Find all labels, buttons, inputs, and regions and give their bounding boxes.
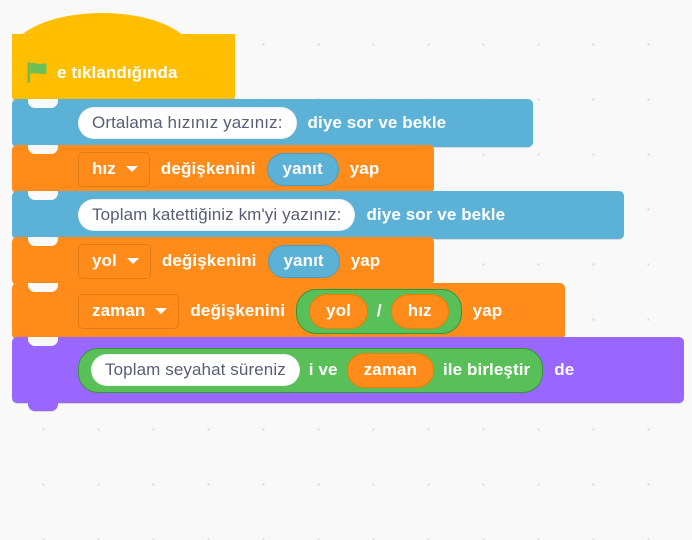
block-set-yol[interactable]: yol değişkenini yanıt yap (12, 237, 434, 285)
block-script[interactable]: e tıklandığında Ortalama hızınız yazınız… (12, 12, 684, 403)
chevron-down-icon (126, 166, 138, 172)
when-flag-clicked-label: e tıklandığında (57, 63, 178, 83)
ask-distance-label: diye sor ve bekle (366, 205, 505, 225)
block-notch (28, 237, 58, 246)
variable-dropdown-hiz[interactable]: hız (78, 152, 150, 187)
block-notch (28, 283, 58, 292)
variable-dropdown-zaman[interactable]: zaman (78, 294, 179, 329)
set-zaman-label-mid: değişkenini (190, 301, 285, 321)
operator-join[interactable]: Toplam seyahat süreniz i ve zaman ile bi… (78, 348, 543, 393)
join-text-input[interactable]: Toplam seyahat süreniz (91, 354, 300, 386)
variable-reporter-yol[interactable]: yol (309, 294, 368, 329)
variable-dropdown-hiz-label: hız (92, 159, 116, 179)
answer-reporter[interactable]: yanıt (267, 153, 339, 186)
variable-dropdown-zaman-label: zaman (92, 301, 145, 321)
blocks-workspace[interactable]: e tıklandığında Ortalama hızınız yazınız… (0, 0, 692, 540)
variable-reporter-zaman[interactable]: zaman (347, 353, 434, 388)
join-label-mid: i ve (309, 360, 338, 380)
ask-speed-input[interactable]: Ortalama hızınız yazınız: (78, 107, 297, 139)
block-set-hiz[interactable]: hız değişkenini yanıt yap (12, 145, 434, 193)
block-say[interactable]: Toplam seyahat süreniz i ve zaman ile bi… (12, 337, 684, 403)
green-flag-icon (26, 61, 48, 84)
set-hiz-label-mid: değişkenini (161, 159, 256, 179)
variable-dropdown-yol[interactable]: yol (78, 244, 151, 279)
set-yol-label-end: yap (351, 251, 381, 271)
chevron-down-icon (155, 308, 167, 314)
block-notch (28, 145, 58, 154)
block-ask-distance[interactable]: Toplam katettiğiniz km'yi yazınız: diye … (12, 191, 624, 239)
block-bump (28, 402, 58, 411)
operator-divide[interactable]: yol / hız (296, 289, 462, 334)
block-notch (28, 99, 58, 108)
answer-reporter[interactable]: yanıt (268, 245, 340, 278)
divide-symbol: / (377, 301, 382, 321)
say-label-end: de (554, 360, 574, 380)
block-notch (28, 191, 58, 200)
join-label-end: ile birleştir (443, 360, 530, 380)
set-zaman-label-end: yap (473, 301, 503, 321)
ask-distance-input[interactable]: Toplam katettiğiniz km'yi yazınız: (78, 199, 355, 231)
set-yol-label-mid: değişkenini (162, 251, 257, 271)
block-set-zaman[interactable]: zaman değişkenini yol / hız yap (12, 283, 565, 339)
hat-fill (12, 34, 235, 54)
block-ask-speed[interactable]: Ortalama hızınız yazınız: diye sor ve be… (12, 99, 533, 147)
variable-reporter-hiz[interactable]: hız (391, 294, 449, 329)
variable-dropdown-yol-label: yol (92, 251, 117, 271)
block-when-flag-clicked[interactable]: e tıklandığında (12, 44, 235, 101)
set-hiz-label-end: yap (350, 159, 380, 179)
block-notch (28, 337, 58, 346)
ask-speed-label: diye sor ve bekle (308, 113, 447, 133)
chevron-down-icon (127, 258, 139, 264)
